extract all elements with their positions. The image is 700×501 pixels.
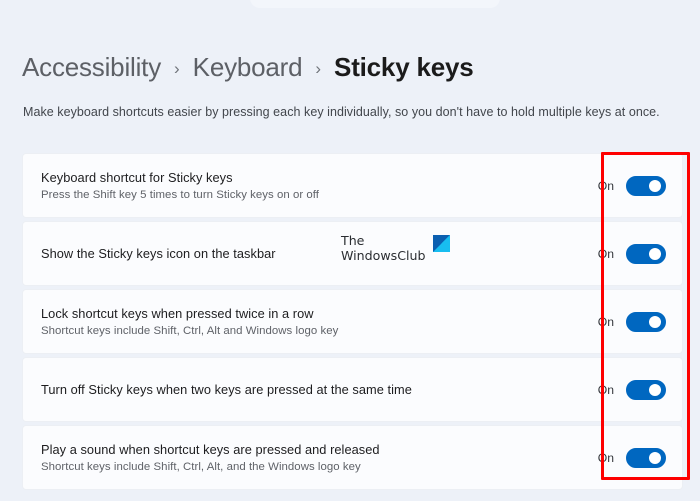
setting-row-keyboard-shortcut: Keyboard shortcut for Sticky keys Press … <box>22 153 683 218</box>
chevron-right-icon: › <box>174 59 180 79</box>
page-description: Make keyboard shortcuts easier by pressi… <box>23 105 660 119</box>
toggle-knob <box>649 452 661 464</box>
toggle-switch-keyboard-shortcut[interactable] <box>626 176 666 196</box>
setting-row-lock-shortcut-keys: Lock shortcut keys when pressed twice in… <box>22 289 683 354</box>
setting-text-block: Keyboard shortcut for Sticky keys Press … <box>41 169 554 203</box>
toggle-switch-taskbar-icon[interactable] <box>626 244 666 264</box>
toggle-state-label: On <box>598 179 614 193</box>
setting-text-block: Play a sound when shortcut keys are pres… <box>41 441 554 475</box>
toggle-knob <box>649 180 661 192</box>
setting-row-play-sound: Play a sound when shortcut keys are pres… <box>22 425 683 490</box>
toggle-state-label: On <box>598 247 614 261</box>
setting-title: Show the Sticky keys icon on the taskbar <box>41 245 554 262</box>
chevron-right-icon: › <box>315 59 321 79</box>
setting-row-turn-off-two-keys: Turn off Sticky keys when two keys are p… <box>22 357 683 422</box>
toggle-switch-lock-shortcut-keys[interactable] <box>626 312 666 332</box>
setting-subtitle: Shortcut keys include Shift, Ctrl, Alt a… <box>41 323 554 339</box>
toggle-knob <box>649 316 661 328</box>
toggle-state-label: On <box>598 383 614 397</box>
window-top-sheen <box>250 0 500 8</box>
toggle-area: On <box>554 244 682 264</box>
toggle-knob <box>649 384 661 396</box>
toggle-area: On <box>554 312 682 332</box>
toggle-switch-turn-off-two-keys[interactable] <box>626 380 666 400</box>
setting-title: Play a sound when shortcut keys are pres… <box>41 441 554 458</box>
setting-text-block: Show the Sticky keys icon on the taskbar <box>41 245 554 262</box>
toggle-switch-play-sound[interactable] <box>626 448 666 468</box>
setting-title: Keyboard shortcut for Sticky keys <box>41 169 554 186</box>
setting-title: Turn off Sticky keys when two keys are p… <box>41 381 554 398</box>
toggle-state-label: On <box>598 451 614 465</box>
breadcrumb-item-keyboard[interactable]: Keyboard <box>193 52 303 83</box>
setting-text-block: Lock shortcut keys when pressed twice in… <box>41 305 554 339</box>
settings-page: Accessibility › Keyboard › Sticky keys M… <box>0 0 700 501</box>
setting-title: Lock shortcut keys when pressed twice in… <box>41 305 554 322</box>
breadcrumb: Accessibility › Keyboard › Sticky keys <box>22 52 474 83</box>
breadcrumb-item-sticky-keys: Sticky keys <box>334 52 473 83</box>
toggle-knob <box>649 248 661 260</box>
setting-row-taskbar-icon: Show the Sticky keys icon on the taskbar… <box>22 221 683 286</box>
setting-text-block: Turn off Sticky keys when two keys are p… <box>41 381 554 398</box>
toggle-area: On <box>554 448 682 468</box>
toggle-area: On <box>554 380 682 400</box>
setting-subtitle: Press the Shift key 5 times to turn Stic… <box>41 187 554 203</box>
settings-list: Keyboard shortcut for Sticky keys Press … <box>22 153 683 493</box>
toggle-state-label: On <box>598 315 614 329</box>
setting-subtitle: Shortcut keys include Shift, Ctrl, Alt, … <box>41 459 554 475</box>
breadcrumb-item-accessibility[interactable]: Accessibility <box>22 52 161 83</box>
toggle-area: On <box>554 176 682 196</box>
